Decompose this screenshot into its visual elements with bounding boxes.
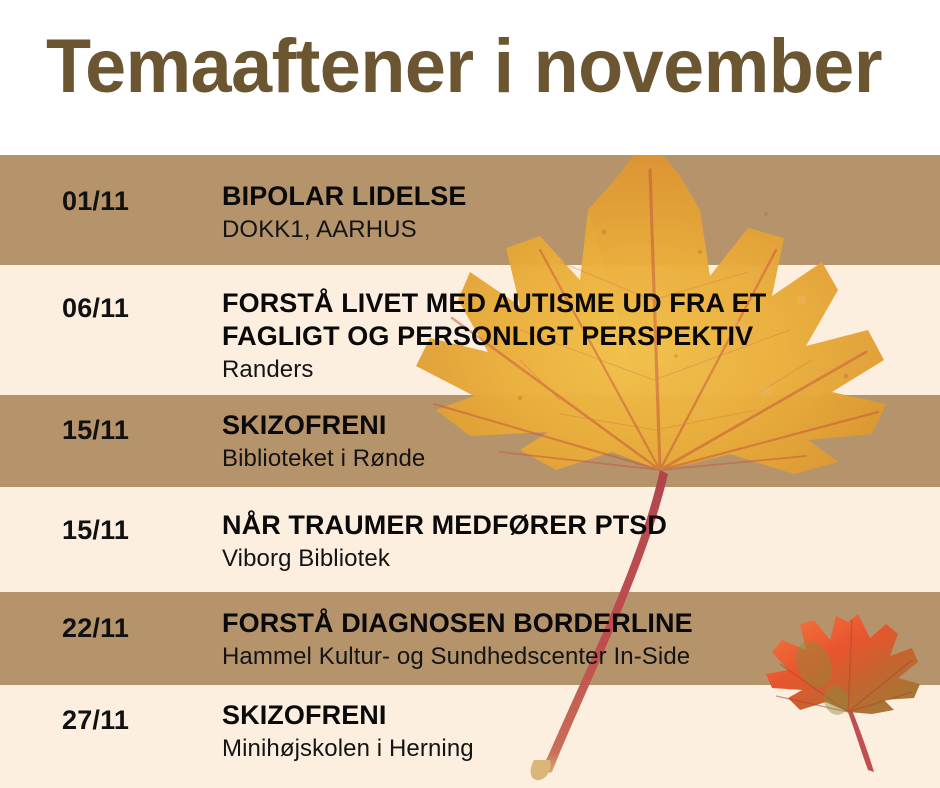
event-date: 06/11 xyxy=(62,292,129,324)
event-row-5[interactable]: 22/11 FORSTÅ DIAGNOSEN BORDERLINE Hammel… xyxy=(0,592,940,685)
event-venue: Randers xyxy=(222,355,930,385)
event-body: FORSTÅ LIVET MED AUTISME UD FRA ET FAGLI… xyxy=(222,287,930,385)
event-row-6[interactable]: 27/11 SKIZOFRENI Minihøjskolen i Herning xyxy=(0,685,940,788)
event-venue: Hammel Kultur- og Sundhedscenter In-Side xyxy=(222,642,930,672)
event-row-2[interactable]: 06/11 FORSTÅ LIVET MED AUTISME UD FRA ET… xyxy=(0,265,940,395)
poster-canvas: Temaaftener i november 01/11 BIPOLAR LID… xyxy=(0,0,940,788)
page-title: Temaaftener i november xyxy=(46,24,880,110)
event-date: 15/11 xyxy=(62,514,129,546)
event-body: BIPOLAR LIDELSE DOKK1, AARHUS xyxy=(222,180,930,245)
event-title: BIPOLAR LIDELSE xyxy=(222,180,930,213)
event-venue: Minihøjskolen i Herning xyxy=(222,734,930,764)
event-row-4[interactable]: 15/11 NÅR TRAUMER MEDFØRER PTSD Viborg B… xyxy=(0,487,940,592)
event-row-1[interactable]: 01/11 BIPOLAR LIDELSE DOKK1, AARHUS xyxy=(0,155,940,265)
event-body: SKIZOFRENI Minihøjskolen i Herning xyxy=(222,699,930,764)
event-title: SKIZOFRENI xyxy=(222,699,930,732)
event-venue: Biblioteket i Rønde xyxy=(222,444,930,474)
event-venue: Viborg Bibliotek xyxy=(222,544,930,574)
event-title-line-2: FAGLIGT OG PERSONLIGT PERSPEKTIV xyxy=(222,320,930,353)
event-date: 27/11 xyxy=(62,704,129,736)
event-title: SKIZOFRENI xyxy=(222,409,930,442)
event-title-line-1: FORSTÅ LIVET MED AUTISME UD FRA ET xyxy=(222,287,930,320)
event-date: 15/11 xyxy=(62,414,129,446)
event-row-3[interactable]: 15/11 SKIZOFRENI Biblioteket i Rønde xyxy=(0,395,940,487)
event-body: FORSTÅ DIAGNOSEN BORDERLINE Hammel Kultu… xyxy=(222,607,930,672)
title-band: Temaaftener i november xyxy=(0,0,940,155)
event-venue: DOKK1, AARHUS xyxy=(222,215,930,245)
event-body: NÅR TRAUMER MEDFØRER PTSD Viborg Bibliot… xyxy=(222,509,930,574)
event-body: SKIZOFRENI Biblioteket i Rønde xyxy=(222,409,930,474)
event-date: 01/11 xyxy=(62,185,129,217)
event-title: NÅR TRAUMER MEDFØRER PTSD xyxy=(222,509,930,542)
event-date: 22/11 xyxy=(62,612,129,644)
event-title: FORSTÅ DIAGNOSEN BORDERLINE xyxy=(222,607,930,640)
